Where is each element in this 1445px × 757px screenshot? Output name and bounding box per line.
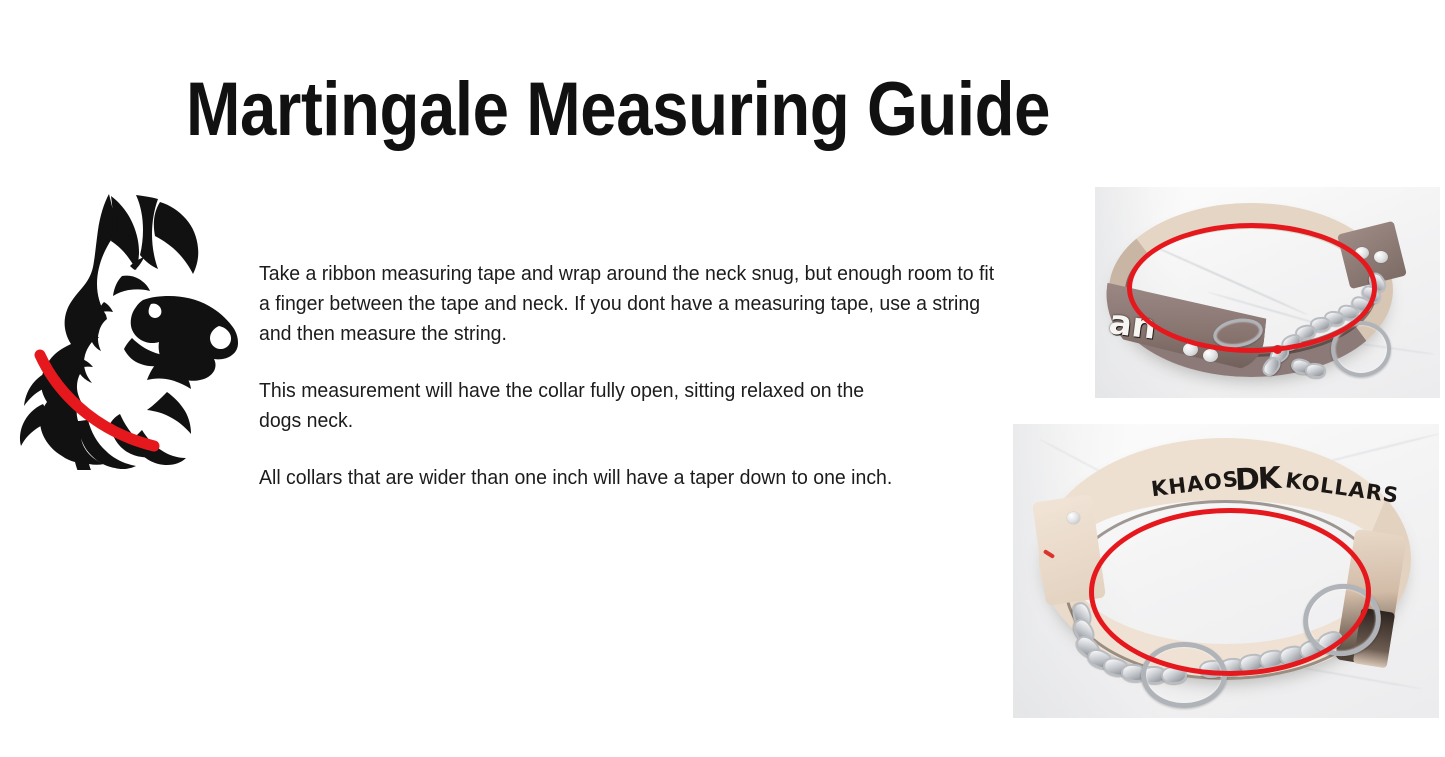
rivet — [1374, 251, 1388, 263]
instruction-paragraph-2: This measurement will have the collar fu… — [259, 376, 867, 436]
red-measuring-ellipse-bottom — [1089, 508, 1371, 676]
dog-head-svg — [12, 182, 244, 470]
rivet — [1203, 349, 1218, 362]
rivet — [1067, 512, 1080, 524]
martingale-collar-bottom-photo: KHAOS DK KOLLARS — [1013, 424, 1439, 718]
instruction-paragraph-3: All collars that are wider than one inch… — [259, 463, 1000, 493]
dog-ink-shapes — [20, 194, 238, 470]
instructions-block: Take a ribbon measuring tape and wrap ar… — [259, 259, 981, 493]
instruction-paragraph-1: Take a ribbon measuring tape and wrap ar… — [259, 259, 1000, 349]
bottom-photo-content: KHAOS DK KOLLARS — [1013, 424, 1439, 718]
red-measuring-ellipse-top — [1127, 223, 1377, 353]
brand-logo-monogram: DK — [1234, 461, 1280, 498]
red-ellipse-endpoint-dot — [1273, 345, 1282, 354]
martingale-collar-top-photo: an — [1095, 187, 1440, 398]
german-shepherd-head-illustration — [12, 182, 244, 470]
page-title: Martingale Measuring Guide — [186, 68, 1050, 152]
top-photo-content: an — [1095, 187, 1440, 398]
